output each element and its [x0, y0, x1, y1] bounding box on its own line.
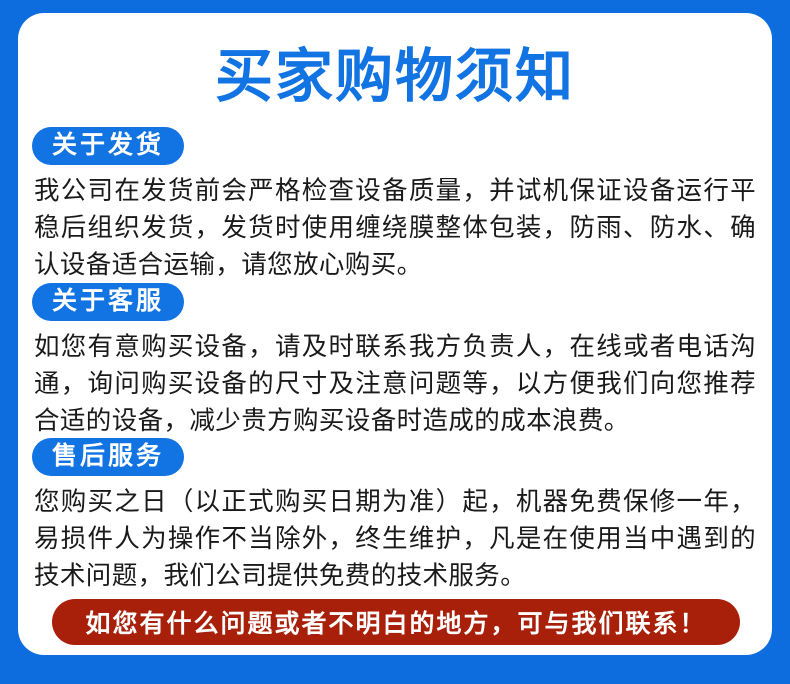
contact-us-banner: 如您有什么问题或者不明白的地方，可与我们联系！	[52, 599, 740, 645]
section-customer-service: 关于客服 如您有意购买设备，请及时联系我方负责人，在线或者电话沟通，询问购买设备…	[18, 283, 772, 440]
section-body-customer-service: 如您有意购买设备，请及时联系我方负责人，在线或者电话沟通，询问购买设备的尺寸及注…	[34, 329, 756, 440]
section-heading-shipping: 关于发货	[32, 127, 184, 165]
section-shipping: 关于发货 我公司在发货前会严格检查设备质量，并试机保证设备运行平稳后组织发货，发…	[18, 127, 772, 284]
page-frame: 买家购物须知 关于发货 我公司在发货前会严格检查设备质量，并试机保证设备运行平稳…	[0, 0, 790, 684]
section-body-shipping: 我公司在发货前会严格检查设备质量，并试机保证设备运行平稳后组织发货，发货时使用缠…	[34, 173, 756, 284]
page-title: 买家购物须知	[18, 47, 772, 105]
section-heading-after-sales: 售后服务	[32, 438, 184, 476]
section-heading-customer-service: 关于客服	[32, 283, 184, 321]
section-after-sales: 售后服务 您购买之日（以正式购买日期为准）起，机器免费保修一年，易损件人为操作不…	[18, 438, 772, 595]
section-body-after-sales: 您购买之日（以正式购买日期为准）起，机器免费保修一年，易损件人为操作不当除外，终…	[34, 484, 756, 595]
notice-card: 买家购物须知 关于发货 我公司在发货前会严格检查设备质量，并试机保证设备运行平稳…	[18, 13, 772, 655]
